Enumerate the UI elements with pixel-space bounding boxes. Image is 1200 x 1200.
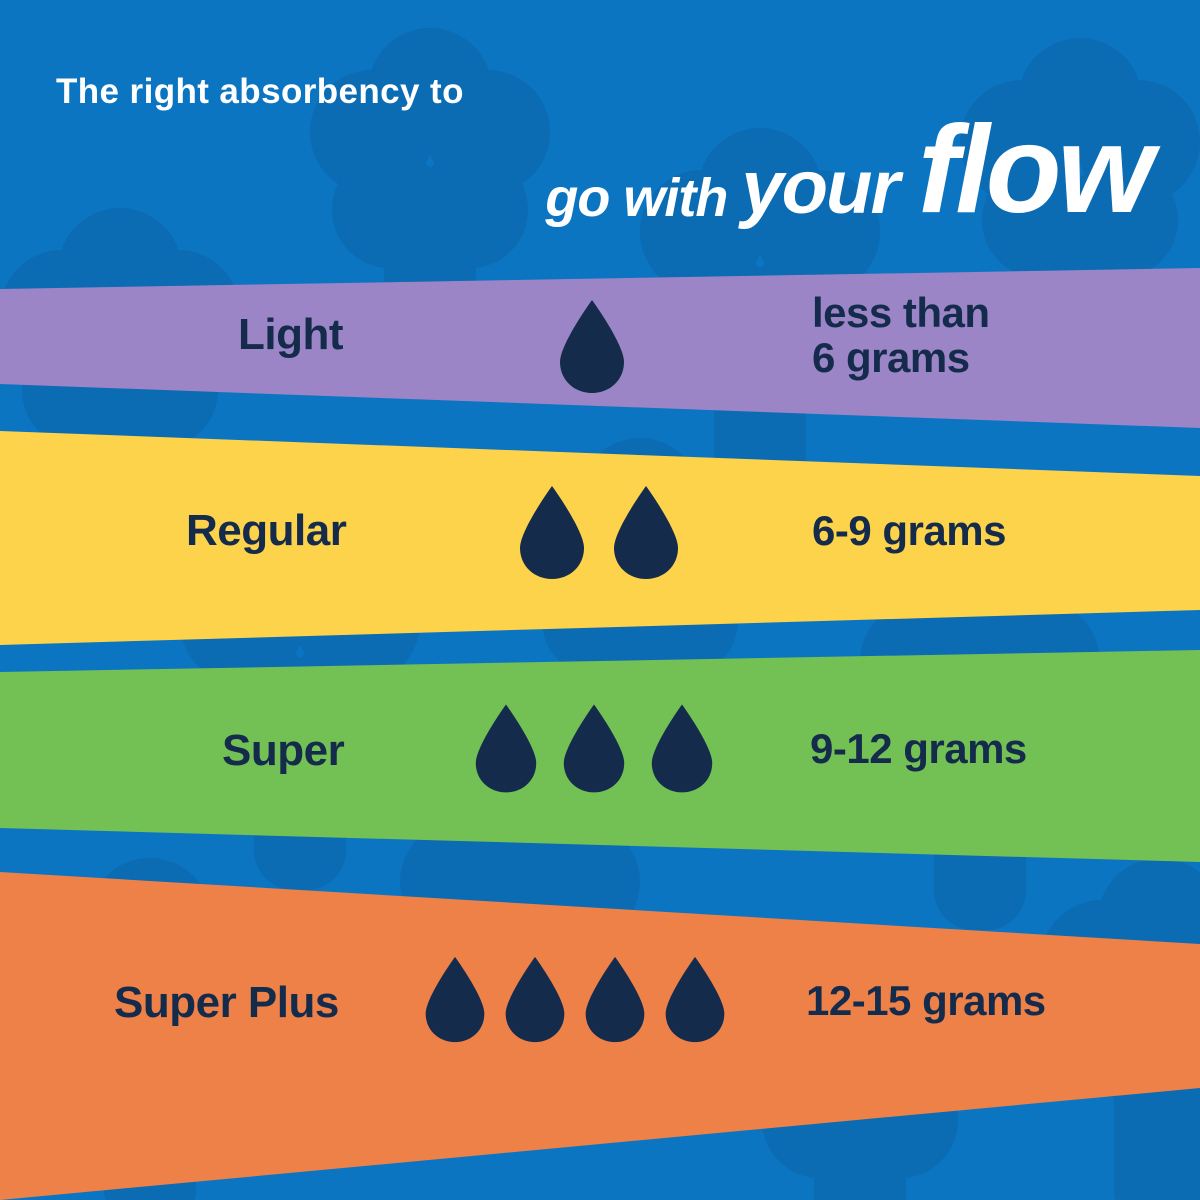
band-super xyxy=(0,650,1200,862)
band-graphics xyxy=(0,0,1200,1200)
absorbency-infographic: The right absorbency to go with your flo… xyxy=(0,0,1200,1200)
